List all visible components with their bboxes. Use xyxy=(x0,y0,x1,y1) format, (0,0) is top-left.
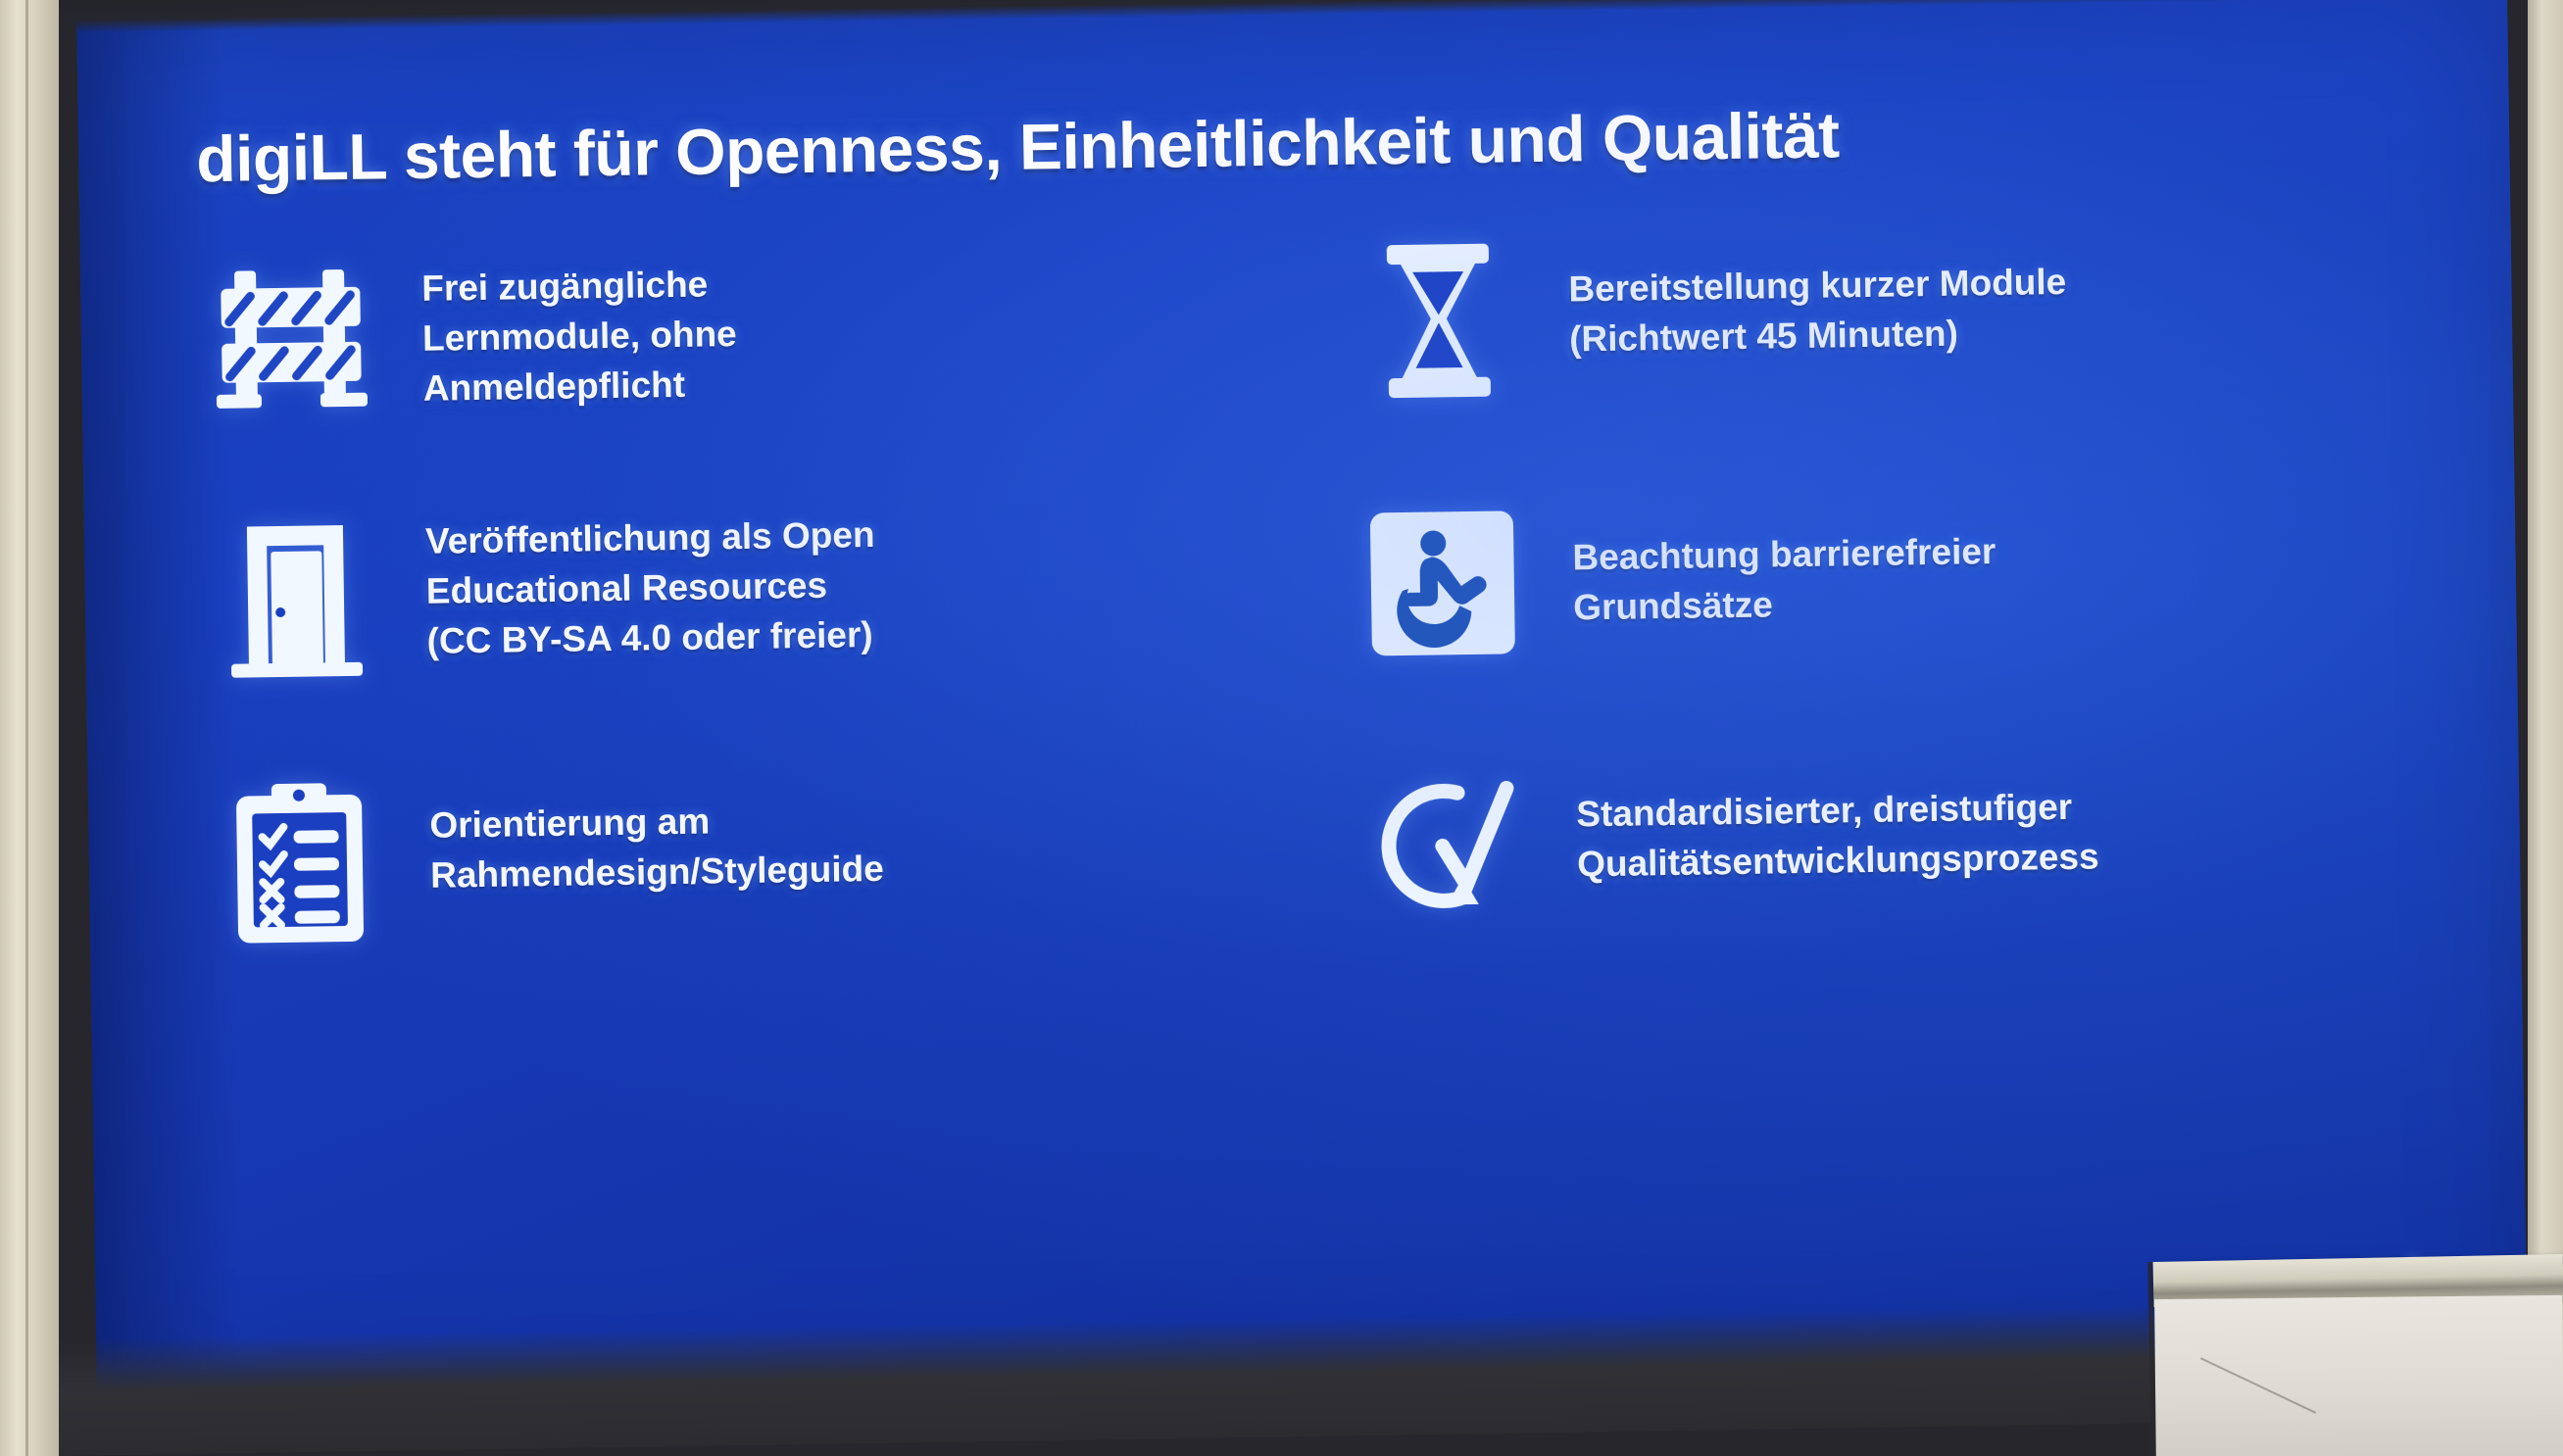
page-title: digiLL steht für Openness, Einheitlichke… xyxy=(196,97,1840,196)
list-item: Frei zugängliche Lernmodule, ohne Anmeld… xyxy=(198,235,1260,513)
hourglass-icon xyxy=(1345,231,1534,411)
wall-left xyxy=(0,0,59,1456)
feature-grid: Frei zugängliche Lernmodule, ohne Anmeld… xyxy=(198,218,2415,1039)
projected-slide: digiLL steht für Openness, Einheitlichke… xyxy=(76,0,2528,1399)
flipchart-board xyxy=(2142,1240,2563,1456)
list-item-line: Beachtung barrierefreier xyxy=(1572,526,1996,582)
refresh-check-icon xyxy=(1353,756,1542,936)
list-item-text: Veröffentlichung als Open Educational Re… xyxy=(425,504,877,666)
list-item-line: Standardisierter, dreistufiger xyxy=(1576,781,2098,839)
list-item-text: Beachtung barrierefreier Grundsätze xyxy=(1572,487,1997,632)
list-item: Veröffentlichung als Open Educational Re… xyxy=(202,498,1264,776)
list-item: Standardisierter, dreistufiger Qualitäts… xyxy=(1353,744,2415,1022)
list-item-text: Standardisierter, dreistufiger Qualitäts… xyxy=(1575,748,2098,889)
list-item-line: Orientierung am xyxy=(429,794,883,850)
list-item-line: Qualitätsentwicklungsprozess xyxy=(1577,832,2099,890)
list-item: Orientierung am Rahmendesign/Styleguide xyxy=(206,760,1268,1039)
list-item-line: Veröffentlichung als Open xyxy=(425,510,875,566)
list-item-text: Frei zugängliche Lernmodule, ohne Anmeld… xyxy=(421,243,738,413)
list-item-line: Anmeldepflicht xyxy=(422,359,737,413)
projection-scene: digiLL steht für Openness, Einheitlichke… xyxy=(0,0,2563,1456)
slide-background: digiLL steht für Openness, Einheitlichke… xyxy=(76,0,2528,1399)
flipchart-crease xyxy=(2200,1357,2316,1414)
wheelchair-accessibility-icon xyxy=(1349,494,1538,673)
list-item: Bereitstellung kurzer Module (Richtwert … xyxy=(1345,218,2407,497)
clipboard-checklist-icon xyxy=(206,773,395,952)
flipchart-sheet xyxy=(2154,1295,2563,1456)
wall-left-seam xyxy=(25,0,28,1456)
list-item-line: Grundsätze xyxy=(1573,576,1997,632)
list-item-line: Lernmodule, ohne xyxy=(422,309,737,364)
list-item-text: Bereitstellung kurzer Module (Richtwert … xyxy=(1568,223,2068,364)
wall-right xyxy=(2528,0,2563,1456)
list-item-line: (CC BY-SA 4.0 oder freier) xyxy=(426,609,876,666)
list-item-line: Educational Resources xyxy=(425,559,875,616)
list-item-line: (Richtwert 45 Minuten) xyxy=(1569,307,2068,364)
list-item-line: Frei zugängliche xyxy=(421,259,736,314)
list-item-line: Bereitstellung kurzer Module xyxy=(1568,257,2067,315)
list-item: Beachtung barrierefreier Grundsätze xyxy=(1349,481,2411,759)
list-item-line: Rahmendesign/Styleguide xyxy=(430,844,884,900)
list-item-text: Orientierung am Rahmendesign/Styleguide xyxy=(429,766,884,900)
open-door-icon xyxy=(202,510,391,690)
slide-content: digiLL steht für Openness, Einheitlichke… xyxy=(76,0,2528,1399)
barrier-icon xyxy=(198,248,387,427)
